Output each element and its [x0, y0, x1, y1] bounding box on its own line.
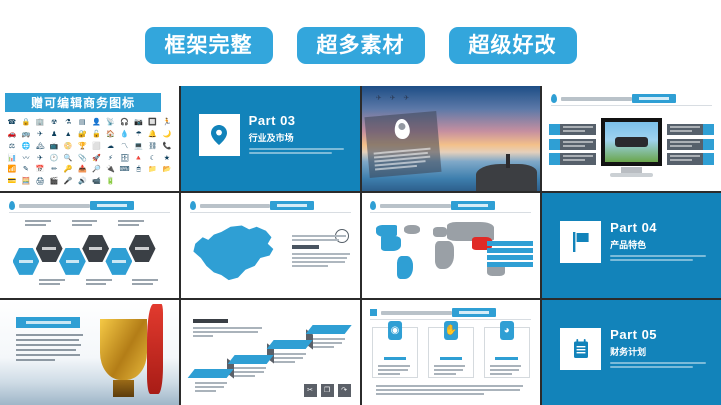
slide-header-tag[interactable] — [452, 308, 496, 317]
business-icon: 🔋 — [104, 176, 117, 187]
part-03-text: Part 03 行业及市场 — [249, 114, 353, 155]
left-label-2[interactable] — [549, 139, 595, 151]
card-body — [485, 365, 529, 375]
map-region-south-america — [397, 256, 413, 279]
card-body — [429, 365, 473, 375]
business-icon: ☾ — [146, 153, 159, 164]
business-icon: ✈ — [34, 129, 47, 140]
hexagon-caption-top-3 — [118, 220, 147, 228]
business-icon: 🏃 — [160, 118, 173, 129]
pin-icon — [551, 94, 557, 103]
badge-easy-to-edit[interactable]: 超级好改 — [449, 27, 577, 64]
business-icon: ✎ — [19, 164, 32, 175]
steps-heading-block — [193, 319, 265, 337]
monitor-base — [610, 173, 653, 177]
business-icon: 🎧 — [118, 118, 131, 129]
pin-icon — [190, 201, 196, 210]
slide-header-title — [381, 311, 452, 315]
card-title — [495, 357, 518, 360]
notepad-icon — [560, 328, 601, 370]
header-badge-row: 框架完整 超多素材 超级好改 — [0, 22, 721, 68]
right-label-2[interactable] — [667, 139, 713, 151]
business-icon: ⛓ — [146, 141, 159, 152]
business-icon: 🔎 — [90, 164, 103, 175]
handshake-photo — [605, 122, 658, 162]
hexagon-caption-top-1 — [25, 220, 54, 228]
business-icon: ☂ — [132, 129, 145, 140]
undo-icon[interactable]: ↷ — [338, 384, 351, 397]
feature-card-2[interactable]: ✋ — [428, 327, 474, 377]
slide-header-title — [380, 204, 451, 208]
business-icon: ⚡ — [104, 153, 117, 164]
business-icon: 🕐 — [48, 153, 61, 164]
business-icon: ▤ — [76, 118, 89, 129]
feature-footer-text — [376, 385, 526, 397]
part-number: Part 03 — [249, 114, 353, 128]
business-icon: ☁ — [104, 141, 117, 152]
china-map-shape[interactable] — [190, 220, 283, 285]
slide-part-04-cover[interactable]: Part 04 产品特色 — [542, 193, 721, 298]
business-icon: 📶 — [5, 164, 18, 175]
slide-hexagon-timeline[interactable] — [0, 193, 179, 298]
business-icon: 🔔 — [146, 129, 159, 140]
location-pin-icon — [199, 114, 240, 156]
hand-icon: ✋ — [444, 321, 458, 340]
business-icon: ⌨ — [118, 164, 131, 175]
pin-icon — [9, 201, 15, 210]
photo-overlay-panel — [364, 111, 441, 178]
cart-icon — [703, 139, 714, 151]
hexagon-3[interactable] — [59, 248, 86, 275]
business-icon: 🚌 — [19, 129, 32, 140]
hexagon-caption-bottom-2 — [86, 279, 115, 287]
badge-many-materials[interactable]: 超多素材 — [297, 27, 425, 64]
business-icon: 🔊 — [76, 176, 89, 187]
business-icon: 🔲 — [146, 118, 159, 129]
world-map-callout — [487, 241, 533, 269]
slide-world-map[interactable] — [362, 193, 541, 298]
business-icon: 🔐 — [76, 129, 89, 140]
left-label-1[interactable] — [549, 124, 595, 136]
business-icon: ☢ — [48, 118, 61, 129]
part-title: 财务计划 — [610, 345, 714, 358]
hiker-silhouette — [506, 154, 510, 168]
hexagon-2[interactable] — [36, 235, 63, 262]
flag-icon — [370, 309, 377, 316]
bank-icon — [549, 124, 560, 136]
slide-part-05-cover[interactable]: Part 05 财务计划 — [542, 300, 721, 405]
hexagon-caption-bottom-1 — [39, 279, 68, 287]
card-body — [373, 365, 417, 375]
hexagon-4[interactable] — [82, 235, 109, 262]
feature-card-row: ◉ ✋ ◕ — [372, 327, 529, 377]
pin-icon — [370, 201, 376, 210]
business-icon: 🔒 — [19, 118, 32, 129]
business-icon: ✈ — [34, 153, 47, 164]
part-number: Part 05 — [610, 328, 714, 342]
business-icon: 🏢 — [34, 118, 47, 129]
part-subtext-lines — [610, 255, 714, 261]
business-icon: 🔺 — [132, 153, 145, 164]
map-region-greenland — [404, 225, 420, 234]
business-icon: 💻 — [132, 141, 145, 152]
slide-feature-cards[interactable]: ◉ ✋ ◕ — [362, 300, 541, 405]
label-text — [667, 153, 702, 165]
business-icon: 👤 — [90, 118, 103, 129]
monitor-frame — [601, 118, 662, 166]
business-icon: 📹 — [90, 176, 103, 187]
business-icon-grid: ☎ 🔒 🏢 ☢ ⚗ ▤ 👤 📡 🎧 📷 🔲 🏃 🚗 🚌 ✈ ♟ ▲ 🔐 🔓 🏠 … — [5, 118, 173, 187]
step-1[interactable] — [188, 369, 235, 378]
business-icon: ♟ — [48, 129, 61, 140]
label-text — [560, 124, 595, 136]
slide-header — [370, 306, 531, 320]
business-icon: 🌐 — [19, 141, 32, 152]
slide-part-03-cover[interactable]: Part 03 行业及市场 — [181, 86, 360, 191]
part-title: 产品特色 — [610, 238, 714, 251]
business-icon: 📞 — [160, 141, 173, 152]
business-icon: 🏔 — [34, 141, 47, 152]
business-icon: 🚗 — [5, 129, 18, 140]
label-text — [667, 139, 702, 151]
cut-icon[interactable]: ✂ — [304, 384, 317, 397]
slide-header-tag[interactable] — [270, 201, 314, 210]
business-icon: ▲ — [62, 129, 75, 140]
slide-trophy[interactable] — [0, 300, 179, 405]
trophy-body-text — [16, 334, 84, 364]
business-icon: 🎬 — [48, 176, 61, 187]
feature-card-3[interactable]: ◕ — [484, 327, 530, 377]
slide-monitor-handshake[interactable] — [542, 86, 721, 191]
hexagon-caption-bottom-3 — [132, 279, 161, 287]
annotation-title — [292, 245, 319, 249]
copy-icon[interactable]: ❐ — [321, 384, 334, 397]
icon-pack-title: 赠可编辑商务图标 — [5, 93, 161, 112]
business-icon: 📷 — [132, 118, 145, 129]
slide-header — [9, 199, 170, 213]
flag-icon — [560, 221, 601, 263]
label-text — [667, 124, 702, 136]
business-icon: 🧮 — [19, 176, 32, 187]
business-icon: 📊 — [5, 153, 18, 164]
business-icon: 🗄 — [118, 153, 131, 164]
book-icon — [549, 139, 560, 151]
business-icon: ☎ — [5, 118, 18, 129]
label-text — [560, 139, 595, 151]
china-map-annotation — [292, 235, 353, 269]
business-icon: 🖱 — [132, 164, 145, 175]
business-icon: 📺 — [48, 141, 61, 152]
slide-header-title — [561, 97, 632, 101]
slide-china-map[interactable] — [181, 193, 360, 298]
hexagon-caption-top-2 — [72, 220, 101, 228]
business-icon: 🔑 — [62, 164, 75, 175]
business-icon: 📎 — [76, 153, 89, 164]
business-icon: 🔓 — [90, 129, 103, 140]
step-4[interactable] — [306, 325, 353, 334]
trophy-tag[interactable] — [16, 317, 80, 329]
business-icon: ⚖ — [5, 141, 18, 152]
slide-header-tag[interactable] — [451, 201, 495, 210]
map-region-europe — [433, 227, 447, 238]
slide-thumbnail-grid: 赠可编辑商务图标 ☎ 🔒 🏢 ☢ ⚗ ▤ 👤 📡 🎧 📷 🔲 🏃 🚗 🚌 ✈ ♟… — [0, 86, 721, 405]
business-icon: 〰 — [19, 153, 32, 164]
left-label-3[interactable] — [549, 153, 595, 165]
right-label-3[interactable] — [667, 153, 713, 165]
part-04-text: Part 04 产品特色 — [610, 221, 714, 262]
person-icon — [549, 153, 560, 165]
red-ribbon — [147, 304, 163, 394]
business-icon: 🏆 — [76, 141, 89, 152]
slide-header-tag[interactable] — [632, 94, 676, 103]
business-icon: ★ — [160, 153, 173, 164]
part-subtext-lines — [610, 362, 714, 368]
slide-header-title — [19, 204, 90, 208]
slide-header-tag[interactable] — [90, 201, 134, 210]
business-icon: 📥 — [76, 164, 89, 175]
slide-steps-diagram[interactable]: ✂ ❐ ↷ — [181, 300, 360, 405]
part-05-text: Part 05 财务计划 — [610, 328, 714, 369]
step-caption-4 — [313, 338, 347, 350]
business-icon: 💳 — [5, 176, 18, 187]
hexagon-6[interactable] — [129, 235, 156, 262]
right-label-1[interactable] — [667, 124, 713, 136]
business-icon: 📅 — [34, 164, 47, 175]
birds-decoration: ✈ ✈ ✈ — [376, 94, 430, 109]
business-icon: ⚗ — [62, 118, 75, 129]
business-icon: 🏠 — [104, 129, 117, 140]
business-icon: 📡 — [104, 118, 117, 129]
camera-icon: ◉ — [388, 321, 402, 340]
business-icon: 〽 — [118, 141, 131, 152]
pie-chart-icon: ◕ — [500, 321, 514, 340]
step-2[interactable] — [227, 355, 274, 364]
slide-header — [370, 199, 531, 213]
overlay-text-lines — [373, 148, 435, 173]
business-icon: ✏ — [48, 164, 61, 175]
business-icon: ⬜ — [90, 141, 103, 152]
slide-header-title — [200, 204, 271, 208]
map-region-usa — [381, 236, 401, 251]
steps-toolbar: ✂ ❐ ↷ — [304, 384, 351, 397]
card-title — [384, 357, 407, 360]
slide-sunset-photo[interactable]: ✈ ✈ ✈ — [362, 86, 541, 191]
business-icon: 🎤 — [62, 176, 75, 187]
business-icon: 📂 — [160, 164, 173, 175]
slide-icon-pack[interactable]: 赠可编辑商务图标 ☎ 🔒 🏢 ☢ ⚗ ▤ 👤 📡 🎧 📷 🔲 🏃 🚗 🚌 ✈ ♟… — [0, 86, 179, 191]
location-pin-icon — [393, 119, 410, 140]
gear-icon — [703, 124, 714, 136]
hexagon-1[interactable] — [13, 248, 40, 275]
map-region-africa — [435, 241, 455, 268]
step-caption-1 — [195, 382, 229, 394]
business-icon: 🖨 — [34, 176, 47, 187]
business-icon: 🔍 — [62, 153, 75, 164]
part-subtext-lines — [249, 148, 353, 154]
badge-framework-complete[interactable]: 框架完整 — [145, 27, 273, 64]
part-title: 行业及市场 — [249, 131, 353, 144]
pen-icon — [703, 153, 714, 165]
business-icon: 📁 — [146, 164, 159, 175]
trophy-cup — [100, 319, 146, 380]
business-icon: 🌙 — [160, 129, 173, 140]
label-text — [560, 153, 595, 165]
part-number: Part 04 — [610, 221, 714, 235]
hexagon-5[interactable] — [105, 248, 132, 275]
step-caption-3 — [274, 353, 308, 365]
card-title — [440, 357, 463, 360]
business-icon: 🚀 — [90, 153, 103, 164]
business-icon: 💧 — [118, 129, 131, 140]
slide-header — [190, 199, 351, 213]
business-icon: 🔌 — [104, 164, 117, 175]
step-caption-2 — [234, 367, 268, 379]
step-3[interactable] — [266, 340, 313, 349]
feature-card-1[interactable]: ◉ — [372, 327, 418, 377]
slide-header — [551, 92, 712, 106]
business-icon: 📀 — [62, 141, 75, 152]
